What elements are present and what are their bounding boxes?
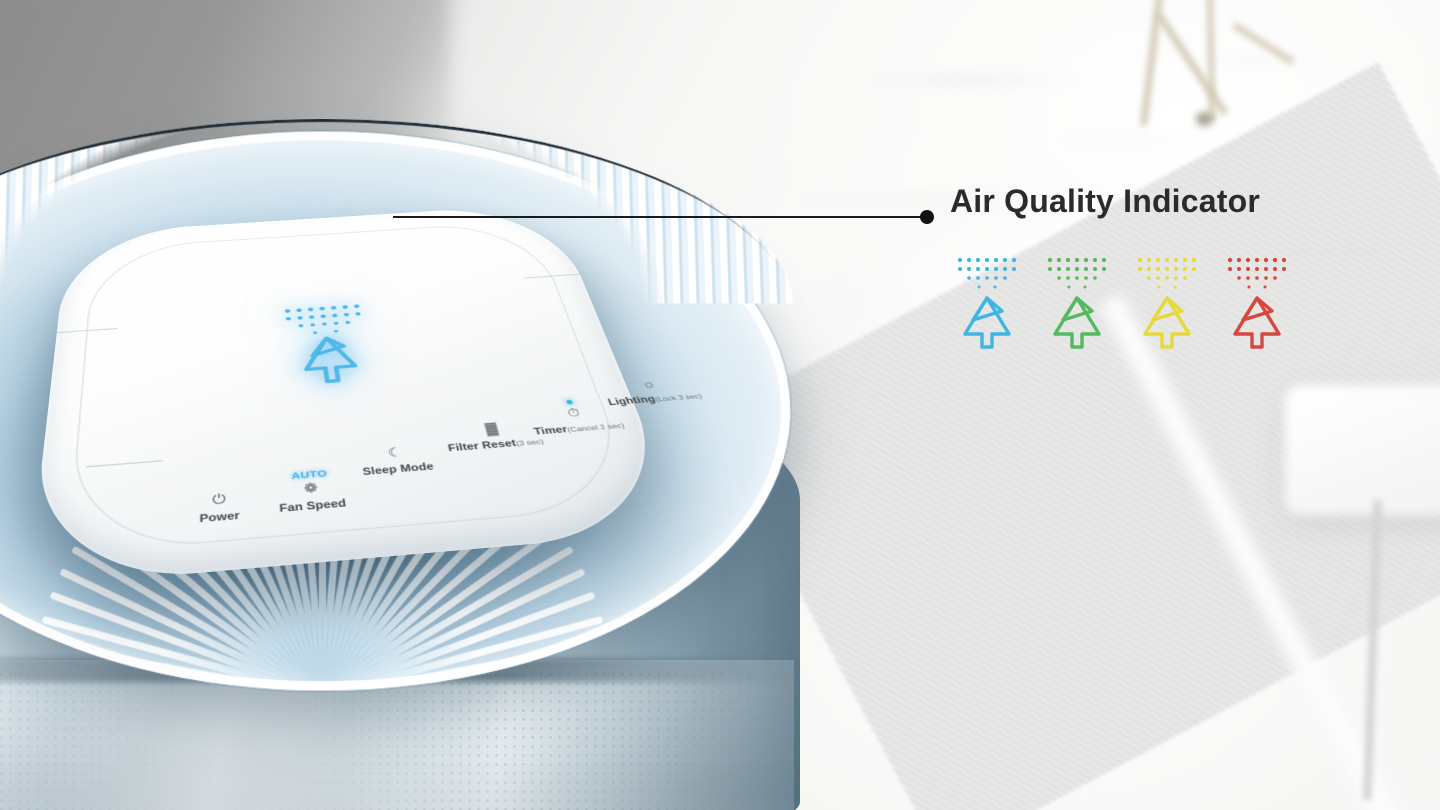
table-leg-foot bbox=[1196, 112, 1212, 126]
tree-outline bbox=[1235, 298, 1279, 347]
lighting-sublabel: (Lock 3 sec) bbox=[654, 392, 704, 403]
tree-outline bbox=[965, 298, 1009, 347]
lighting-label: Lighting bbox=[607, 395, 657, 408]
green-tree-icon bbox=[1040, 254, 1114, 350]
tree-outline bbox=[1055, 298, 1099, 347]
particle-dots bbox=[1048, 258, 1106, 289]
lighting-icon: ☼ bbox=[600, 376, 697, 394]
red-tree-icon bbox=[1220, 254, 1294, 350]
screenshot-root: ⏻PowerAUTO❁Fan Speed☾Sleep Mode▓Filter R… bbox=[0, 0, 1440, 810]
particle-dots bbox=[1138, 258, 1196, 289]
callout-leader-line bbox=[393, 216, 921, 218]
particle-dots bbox=[958, 258, 1016, 289]
callout-title: Air Quality Indicator bbox=[950, 182, 1370, 220]
background-table-surface bbox=[1285, 385, 1440, 515]
air-purifier-product: ⏻PowerAUTO❁Fan Speed☾Sleep Mode▓Filter R… bbox=[0, 30, 860, 810]
particle-dots bbox=[1228, 258, 1286, 289]
yellow-tree-icon bbox=[1130, 254, 1204, 350]
air-quality-level-icons bbox=[950, 254, 1370, 350]
blue-tree-icon bbox=[950, 254, 1024, 350]
callout-panel: Air Quality Indicator bbox=[950, 182, 1370, 350]
tree-outline bbox=[1145, 298, 1189, 347]
callout-leader-dot bbox=[920, 210, 934, 224]
